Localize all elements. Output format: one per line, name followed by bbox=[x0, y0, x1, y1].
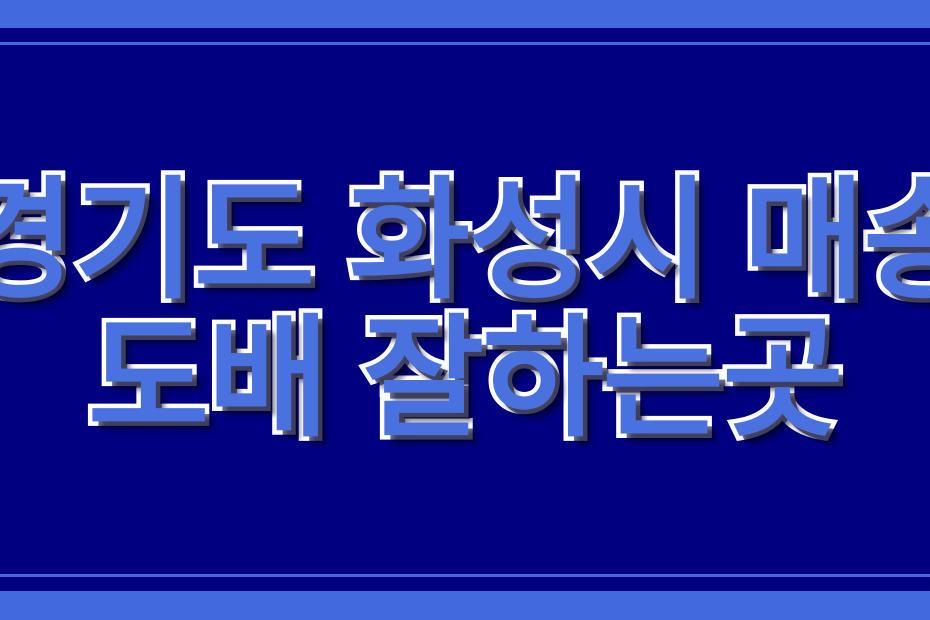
headline-line-2-text: 도배 잘하는곳 bbox=[88, 305, 842, 452]
thumbnail-canvas: 경기도 화성시 매송면 도배 잘하는곳 bbox=[0, 0, 930, 620]
top-navy-band bbox=[0, 28, 930, 42]
headline-line-2: 도배 잘하는곳 bbox=[88, 313, 842, 445]
headline-line-1-text: 경기도 화성시 매송면 bbox=[0, 175, 930, 307]
top-accent-band bbox=[0, 0, 930, 28]
bottom-navy-band bbox=[0, 577, 930, 591]
headline-line-1: 경기도 화성시 매송면 bbox=[0, 175, 930, 307]
bottom-accent-band bbox=[0, 591, 930, 620]
headline-block: 경기도 화성시 매송면 도배 잘하는곳 bbox=[0, 45, 930, 574]
